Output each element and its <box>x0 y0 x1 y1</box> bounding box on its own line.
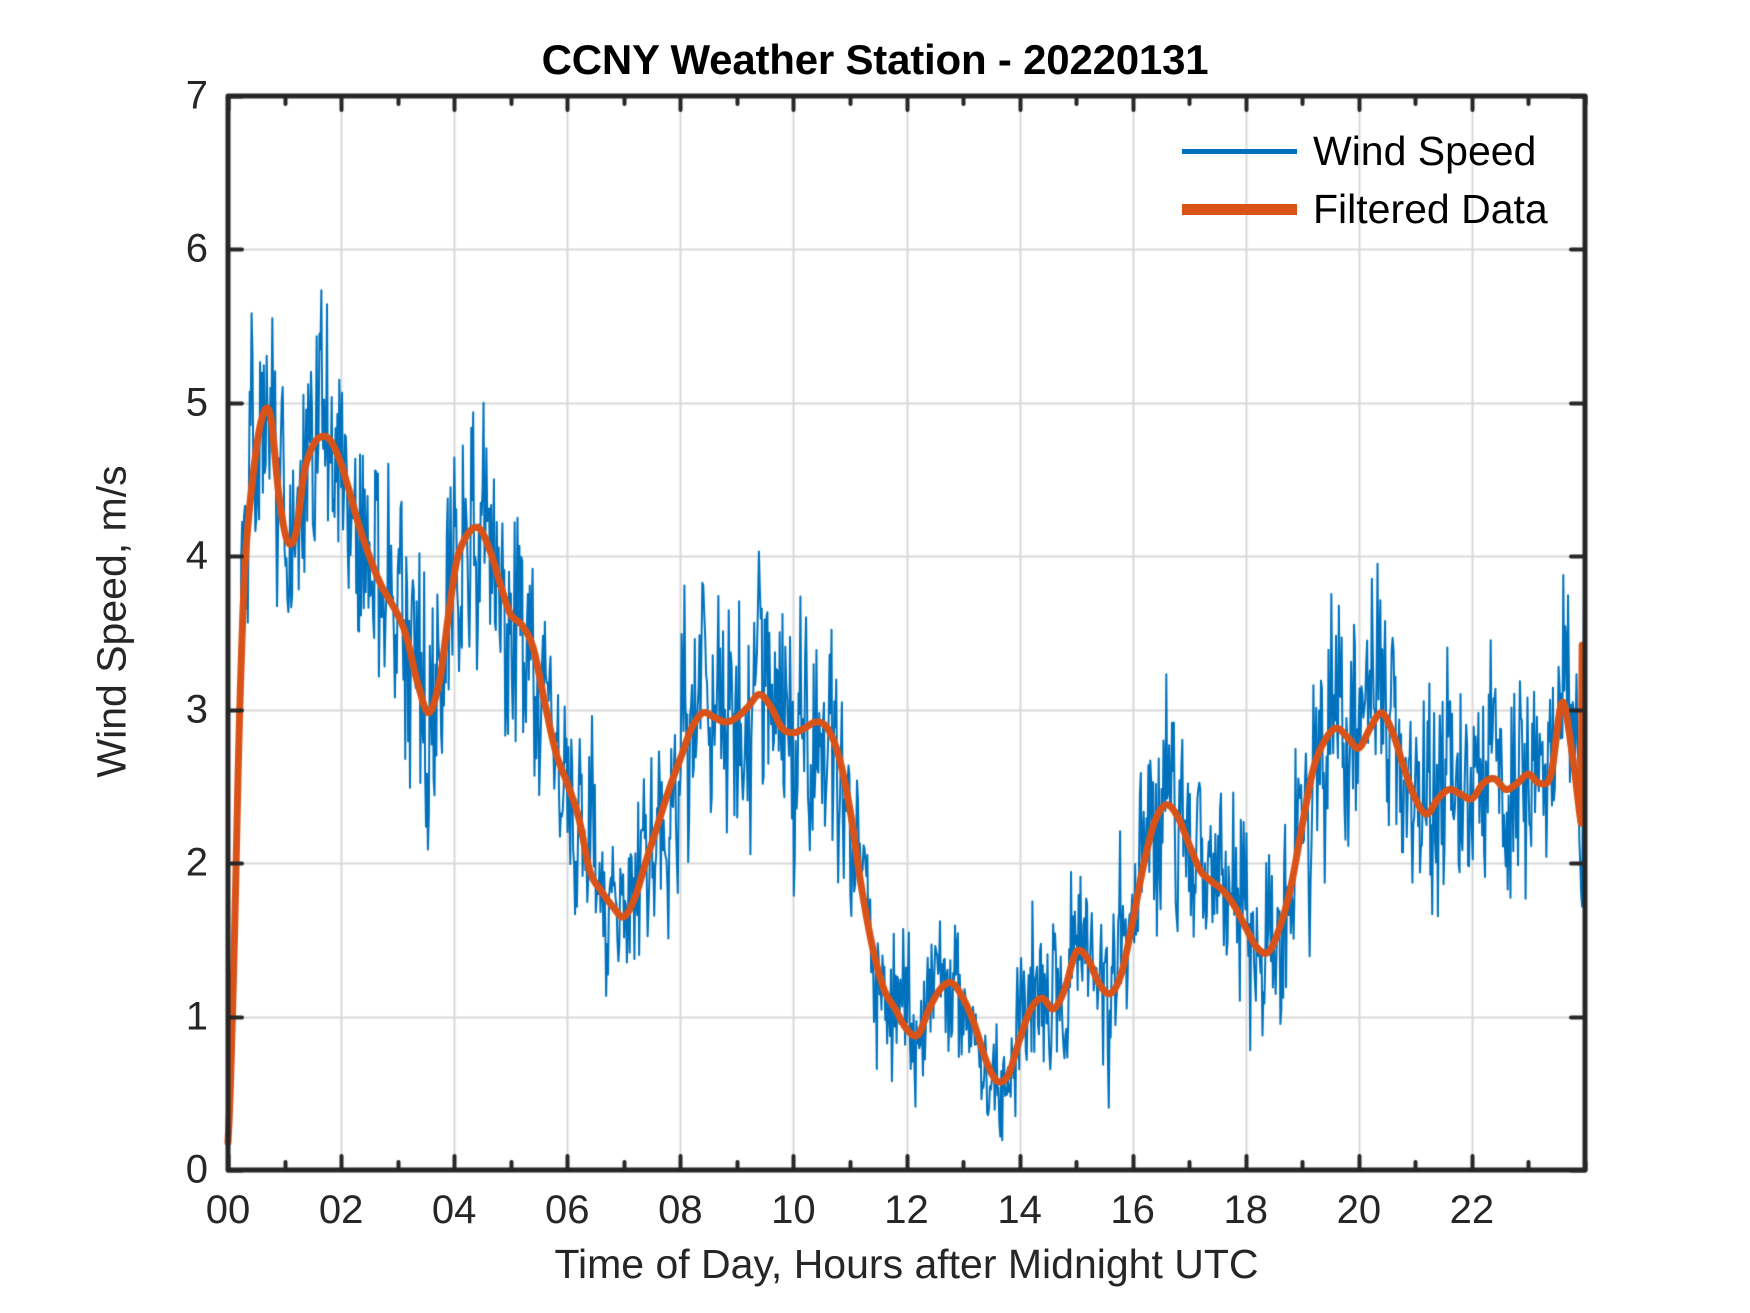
y-tick-label: 5 <box>98 380 208 425</box>
x-tick-label: 08 <box>658 1188 703 1233</box>
y-tick-label: 0 <box>98 1148 208 1193</box>
y-tick-label: 4 <box>98 534 208 579</box>
legend-label-wind-speed: Wind Speed <box>1313 128 1536 175</box>
y-tick-label: 3 <box>98 687 208 732</box>
y-tick-label: 7 <box>98 74 208 119</box>
x-tick-label: 14 <box>997 1188 1042 1233</box>
legend-swatch-wind-speed <box>1182 149 1297 154</box>
chart-legend: Wind Speed Filtered Data <box>1182 122 1582 238</box>
y-tick-label: 1 <box>98 994 208 1039</box>
y-tick-label: 6 <box>98 227 208 272</box>
x-tick-label: 16 <box>1110 1188 1155 1233</box>
legend-swatch-filtered-data <box>1182 204 1297 215</box>
x-axis-label: Time of Day, Hours after Midnight UTC <box>228 1241 1585 1288</box>
legend-item-filtered-data[interactable]: Filtered Data <box>1182 180 1582 238</box>
x-tick-label: 18 <box>1224 1188 1269 1233</box>
x-tick-label: 04 <box>432 1188 477 1233</box>
chart-title: CCNY Weather Station - 20220131 <box>0 36 1750 84</box>
legend-item-wind-speed[interactable]: Wind Speed <box>1182 122 1582 180</box>
x-tick-label: 22 <box>1450 1188 1495 1233</box>
x-tick-label: 20 <box>1337 1188 1382 1233</box>
x-tick-label: 12 <box>884 1188 929 1233</box>
x-tick-label: 06 <box>545 1188 590 1233</box>
legend-label-filtered-data: Filtered Data <box>1313 186 1548 233</box>
x-tick-label: 00 <box>206 1188 251 1233</box>
figure-container: CCNY Weather Station - 20220131 Wind Spe… <box>0 0 1750 1313</box>
x-tick-label: 02 <box>319 1188 364 1233</box>
y-tick-label: 2 <box>98 841 208 886</box>
x-tick-label: 10 <box>771 1188 816 1233</box>
